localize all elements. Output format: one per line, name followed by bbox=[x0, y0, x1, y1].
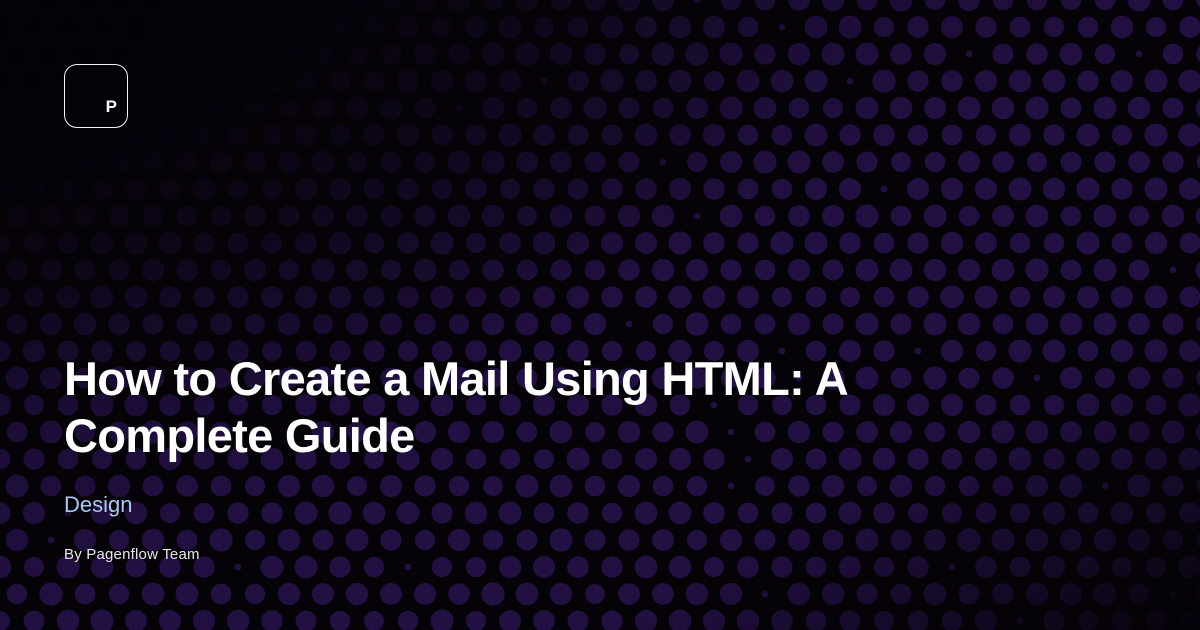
logo-letter-p: P bbox=[106, 98, 117, 115]
headline-block: How to Create a Mail Using HTML: A Compl… bbox=[64, 350, 944, 465]
cover-content: P How to Create a Mail Using HTML: A Com… bbox=[0, 0, 1200, 630]
author-byline: By Pagenflow Team bbox=[64, 545, 200, 565]
article-cover-card: P How to Create a Mail Using HTML: A Com… bbox=[0, 0, 1200, 630]
pagenflow-logo[interactable]: P bbox=[64, 64, 128, 128]
category-label[interactable]: Design bbox=[64, 492, 132, 518]
article-title: How to Create a Mail Using HTML: A Compl… bbox=[64, 350, 944, 465]
